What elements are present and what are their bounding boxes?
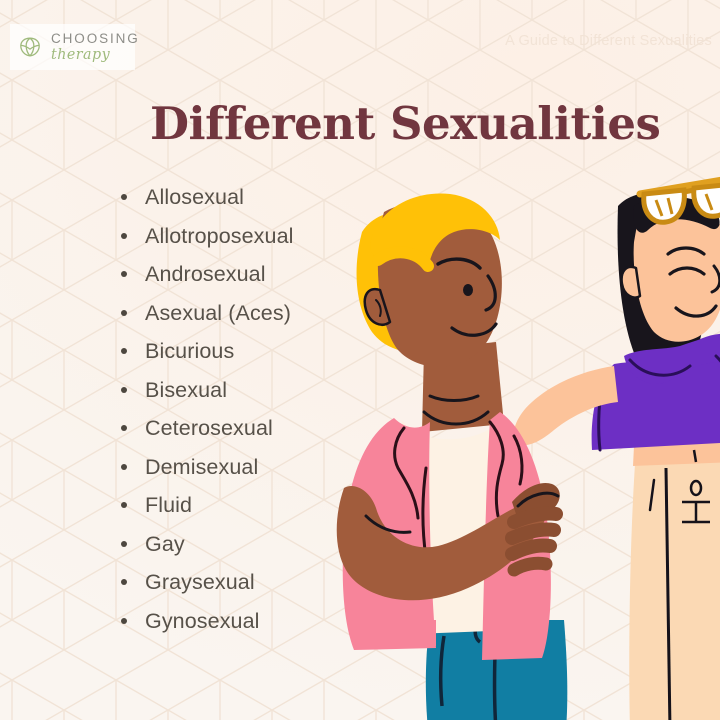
list-item-label: Allotroposexual bbox=[145, 224, 294, 248]
two-people-illustration bbox=[318, 150, 720, 720]
list-item-label: Gay bbox=[145, 532, 185, 556]
list-item-label: Bisexual bbox=[145, 378, 227, 402]
list-item-label: Asexual (Aces) bbox=[145, 301, 291, 325]
list-item-label: Fluid bbox=[145, 493, 192, 517]
person-left bbox=[337, 194, 568, 720]
leaf-plant-icon bbox=[14, 31, 46, 63]
logo-word-therapy: therapy bbox=[51, 47, 135, 62]
list-item-label: Demisexual bbox=[145, 455, 258, 479]
sunglasses-icon bbox=[640, 178, 720, 222]
logo-wordmark: CHOOSING therapy bbox=[51, 32, 140, 62]
list-item-label: Gynosexual bbox=[145, 609, 260, 633]
list-item-label: Graysexual bbox=[145, 570, 255, 594]
hand bbox=[512, 483, 560, 570]
poster-canvas: CHOOSING therapy A Guide to Different Se… bbox=[0, 0, 720, 720]
watermark-text: A Guide to Different Sexualities bbox=[505, 33, 712, 49]
brand-logo[interactable]: CHOOSING therapy bbox=[10, 24, 135, 70]
list-item-label: Allosexual bbox=[145, 185, 244, 209]
list-item-label: Androsexual bbox=[145, 262, 266, 286]
list-item-label: Ceterosexual bbox=[145, 416, 273, 440]
list-item-label: Bicurious bbox=[145, 339, 234, 363]
logo-word-choosing: CHOOSING bbox=[51, 32, 140, 46]
page-title: Different Sexualities bbox=[150, 97, 660, 150]
